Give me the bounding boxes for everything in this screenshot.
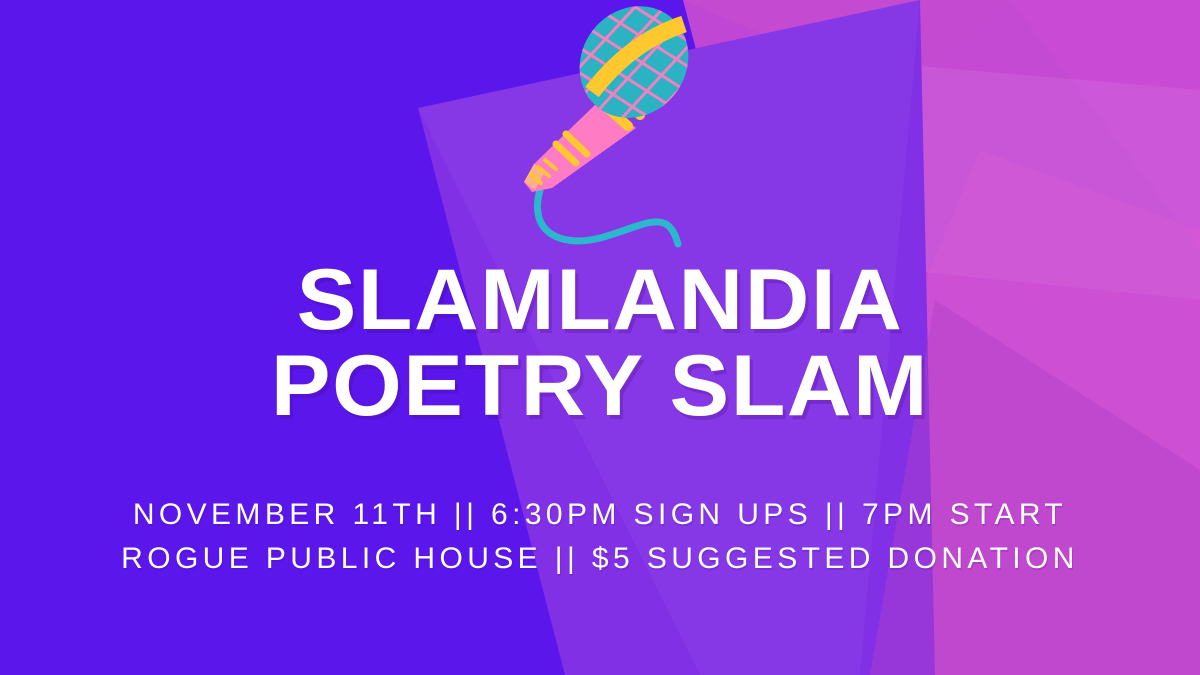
event-flyer: SLAMLANDIA POETRY SLAM NOVEMBER 11TH || … bbox=[0, 0, 1200, 675]
background-shapes bbox=[0, 0, 1200, 675]
